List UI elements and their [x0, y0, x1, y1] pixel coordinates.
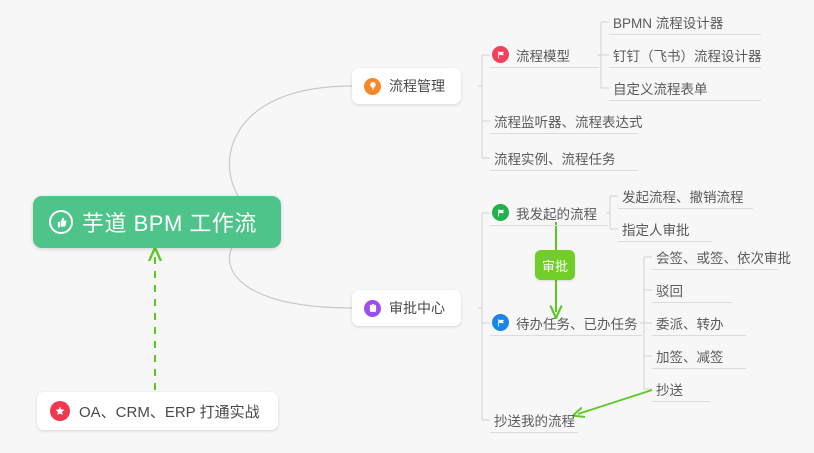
node-delegate-transfer[interactable]: 委派、转办 — [652, 310, 746, 336]
mindmap-canvas: 芋道 BPM 工作流 流程管理 审批中心 — [0, 0, 814, 453]
node-todo-done-tasks[interactable]: 待办任务、已办任务 — [490, 310, 642, 336]
bottom-note-label: OA、CRM、ERP 打通实战 — [79, 401, 260, 422]
node-label: 指定人审批 — [622, 224, 690, 238]
node-cc[interactable]: 抄送 — [652, 376, 710, 402]
node-label: 驳回 — [656, 285, 683, 299]
node-label: 我发起的流程 — [516, 208, 597, 222]
flag-icon — [492, 314, 509, 331]
star-icon — [50, 401, 70, 421]
root-label: 芋道 BPM 工作流 — [82, 206, 257, 238]
approval-tag[interactable]: 审批 — [535, 250, 575, 280]
node-label: 会签、或签、依次审批 — [656, 252, 791, 266]
node-label: 发起流程、撤销流程 — [622, 191, 744, 205]
node-countersign[interactable]: 会签、或签、依次审批 — [652, 244, 778, 270]
node-label: 流程监听器、流程表达式 — [494, 116, 643, 130]
bottom-note-card[interactable]: OA、CRM、ERP 打通实战 — [37, 392, 278, 430]
branch-approval-center[interactable]: 审批中心 — [352, 290, 461, 326]
branch-label: 审批中心 — [389, 298, 445, 318]
node-dingtalk-designer[interactable]: 钉钉（飞书）流程设计器 — [609, 42, 761, 68]
node-reject[interactable]: 驳回 — [652, 277, 732, 303]
node-start-cancel-process[interactable]: 发起流程、撤销流程 — [618, 183, 753, 209]
node-label: 钉钉（飞书）流程设计器 — [613, 50, 762, 64]
node-label: 流程模型 — [516, 50, 570, 64]
node-listener-expression[interactable]: 流程监听器、流程表达式 — [490, 108, 638, 134]
node-assignee-approval[interactable]: 指定人审批 — [618, 216, 712, 242]
node-bpmn-designer[interactable]: BPMN 流程设计器 — [609, 9, 761, 35]
node-label: BPMN 流程设计器 — [613, 17, 723, 31]
thumbs-up-icon — [49, 210, 73, 234]
flag-icon — [492, 204, 509, 221]
node-label: 加签、减签 — [656, 351, 724, 365]
flag-icon — [492, 46, 509, 63]
node-label: 流程实例、流程任务 — [494, 153, 616, 167]
clipboard-icon — [364, 300, 381, 317]
node-label: 待办任务、已办任务 — [516, 318, 638, 332]
branch-process-management[interactable]: 流程管理 — [352, 68, 461, 104]
node-process-model[interactable]: 流程模型 — [490, 42, 599, 68]
branch-label: 流程管理 — [389, 76, 445, 96]
node-custom-form[interactable]: 自定义流程表单 — [609, 75, 761, 101]
node-label: 自定义流程表单 — [613, 83, 708, 97]
node-my-initiated[interactable]: 我发起的流程 — [490, 200, 608, 226]
root-node[interactable]: 芋道 BPM 工作流 — [33, 196, 281, 248]
node-label: 抄送 — [656, 384, 683, 398]
node-add-remove-sign[interactable]: 加签、减签 — [652, 343, 746, 369]
node-cc-to-me[interactable]: 抄送我的流程 — [490, 407, 578, 433]
node-label: 抄送我的流程 — [494, 415, 575, 429]
lightbulb-icon — [364, 78, 381, 95]
node-label: 委派、转办 — [656, 318, 724, 332]
approval-tag-label: 审批 — [542, 256, 568, 275]
node-instance-task[interactable]: 流程实例、流程任务 — [490, 145, 638, 171]
